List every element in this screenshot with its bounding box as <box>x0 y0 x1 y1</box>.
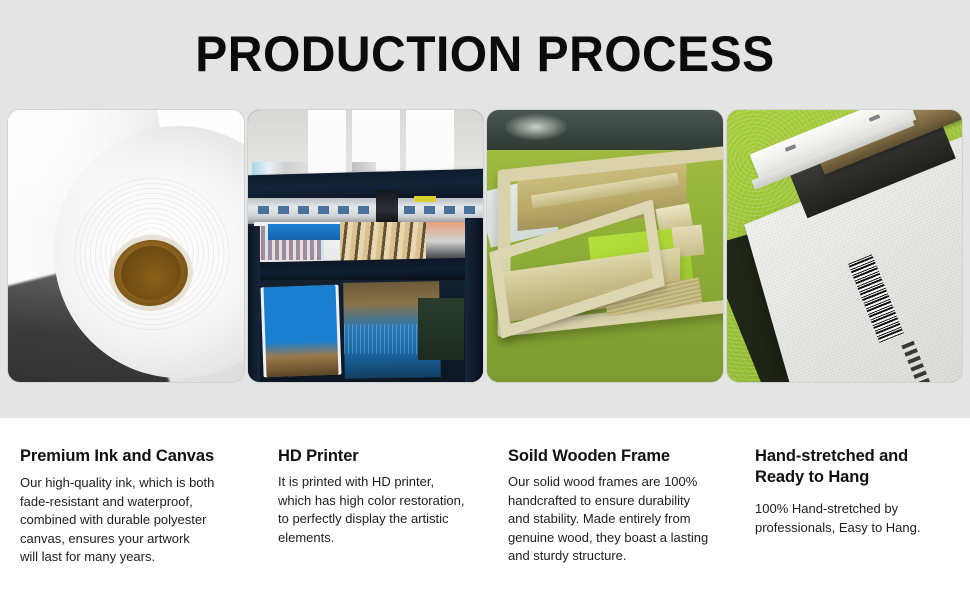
production-process-banner: PRODUCTION PROCESS <box>0 0 970 600</box>
print-head <box>376 190 398 224</box>
feature-line: canvas, ensures your artwork <box>20 530 260 549</box>
feature-title: HD Printer <box>278 446 493 467</box>
feature-column-hand-stretched-and-ready-to-hang: Hand-stretched and Ready to Hang 100% Ha… <box>755 446 960 537</box>
blue-print-band <box>268 224 340 240</box>
rail-indicator <box>318 206 329 214</box>
feature-columns: Premium Ink and Canvas Our high-quality … <box>0 418 970 600</box>
window-glow <box>505 114 567 140</box>
printed-sheet-left <box>260 285 341 378</box>
feature-line: It is printed with HD printer, <box>278 473 493 492</box>
printer-post-left <box>248 226 260 382</box>
feature-column-premium-ink-and-canvas: Premium Ink and Canvas Our high-quality … <box>20 446 260 567</box>
rail-indicator <box>358 206 369 214</box>
feature-title: Premium Ink and Canvas <box>20 446 260 467</box>
rail-indicator <box>258 206 269 214</box>
printer-post-right <box>465 218 483 382</box>
feature-description: It is printed with HD printer, which has… <box>278 473 493 547</box>
highlight-glow <box>8 110 158 230</box>
feature-line: to perfectly display the artistic <box>278 510 493 529</box>
rail-indicator <box>404 206 415 214</box>
feature-line: handcrafted to ensure durability <box>508 492 733 511</box>
page-title: PRODUCTION PROCESS <box>19 26 950 82</box>
wall-sign <box>352 162 376 172</box>
hd-printer-photo <box>248 110 484 382</box>
feature-description: Our high-quality ink, which is both fade… <box>20 474 260 567</box>
feature-line: 100% Hand-stretched by <box>755 500 960 519</box>
feature-description: Our solid wood frames are 100% handcraft… <box>508 473 733 566</box>
feature-line: professionals, Easy to Hang. <box>755 519 960 538</box>
feature-line: fade-resistant and waterproof, <box>20 493 260 512</box>
photo-gallery <box>8 110 962 382</box>
feature-title: Hand-stretched and Ready to Hang <box>755 446 960 488</box>
feature-title-line: Hand-stretched and <box>755 447 908 465</box>
feature-line: which has high color restoration, <box>278 492 493 511</box>
feature-line: elements. <box>278 529 493 548</box>
feature-column-hd-printer: HD Printer It is printed with HD printer… <box>278 446 493 547</box>
rail-indicator <box>298 206 309 214</box>
feature-line: and stability. Made entirely from <box>508 510 733 529</box>
feature-title: Soild Wooden Frame <box>508 446 733 467</box>
canvas-roll-photo <box>8 110 244 382</box>
rail-indicator <box>424 206 435 214</box>
feature-line: genuine wood, they boast a lasting <box>508 529 733 548</box>
feature-line: Our high-quality ink, which is both <box>20 474 260 493</box>
feature-title-line: Ready to Hang <box>755 468 869 486</box>
feature-line: and sturdy structure. <box>508 547 733 566</box>
rail-indicator <box>278 206 289 214</box>
feature-line: will last for many years. <box>20 548 260 567</box>
printer-rail <box>248 198 484 224</box>
wooden-frame-photo <box>487 110 723 382</box>
hand-stretched-canvas-photo <box>727 110 963 382</box>
printed-sheet-right <box>418 298 464 360</box>
hero-band: PRODUCTION PROCESS <box>0 0 970 418</box>
feature-line: combined with durable polyester <box>20 511 260 530</box>
feature-line: Our solid wood frames are 100% <box>508 473 733 492</box>
rail-indicator <box>444 206 455 214</box>
feature-description: 100% Hand-stretched by professionals, Ea… <box>755 500 960 537</box>
rail-indicator <box>464 206 475 214</box>
feature-column-soild-wooden-frame: Soild Wooden Frame Our solid wood frames… <box>508 446 733 566</box>
rail-indicator <box>338 206 349 214</box>
yellow-label <box>414 196 436 202</box>
